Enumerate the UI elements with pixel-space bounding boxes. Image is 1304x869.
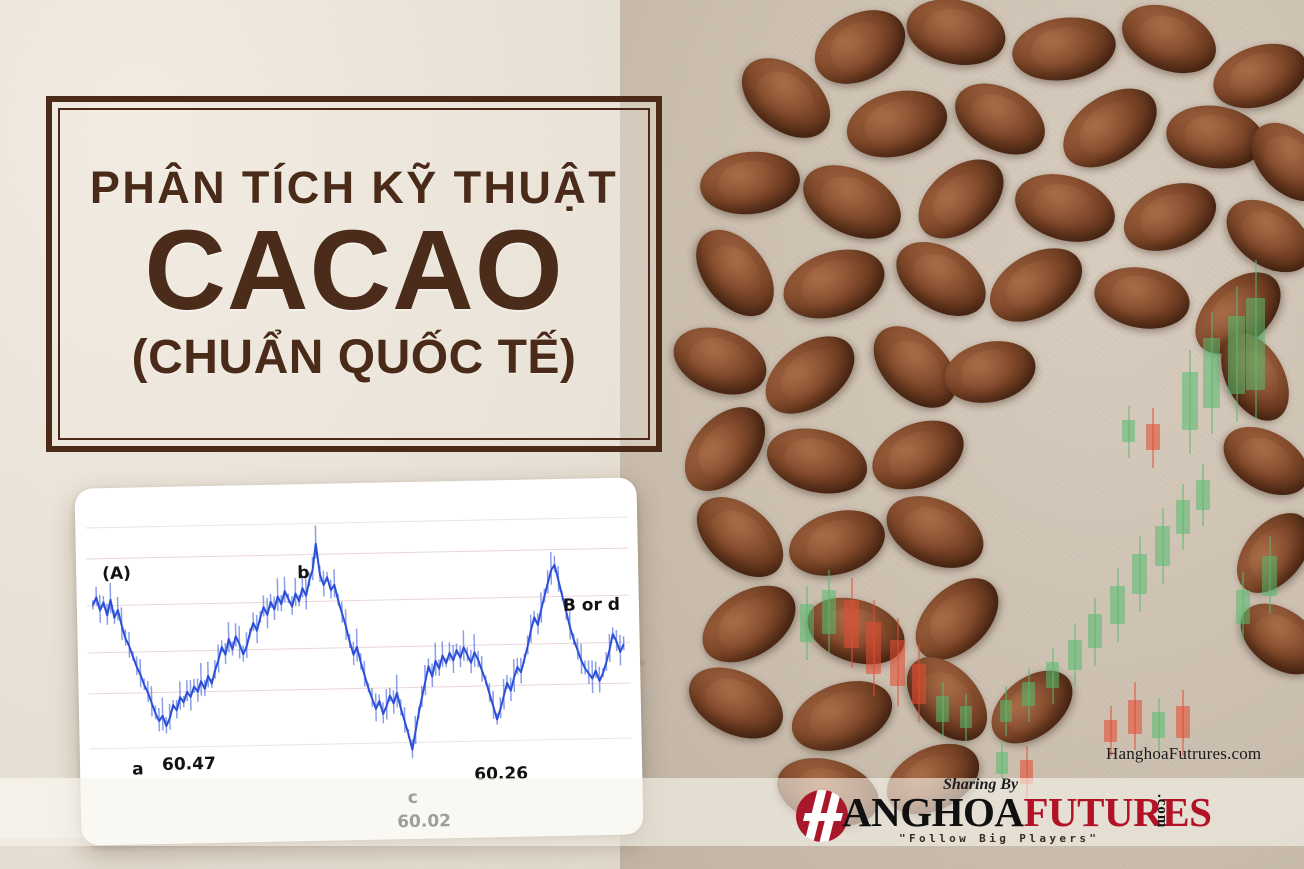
candlestick (844, 578, 859, 668)
poster-canvas: (m7 (+6)6n 7-1)9, (38)((76)(04)78)1)041(… (0, 0, 1304, 869)
candlestick-body (1022, 682, 1035, 706)
candlestick-body (1246, 298, 1265, 390)
candlestick-body (1182, 372, 1198, 430)
candlestick-body (1104, 720, 1117, 742)
candlestick (1155, 508, 1170, 584)
candlestick-body (1046, 662, 1059, 688)
candlestick-body (1152, 712, 1165, 738)
candlestick-body (1132, 554, 1147, 594)
candlestick-body (1000, 700, 1012, 722)
candlestick-body (1196, 480, 1210, 510)
candlestick (1110, 568, 1125, 642)
candlestick-body (1146, 424, 1160, 450)
chart-label-low-a: a (132, 759, 144, 779)
candlestick (1262, 536, 1277, 614)
candlestick-body (844, 600, 859, 648)
chart-value-60-47: 60.47 (162, 754, 216, 775)
candlestick-body (1122, 420, 1135, 442)
candlestick (1196, 464, 1210, 526)
title-line-standard: (CHUẨN QUỐC TẾ) (132, 332, 577, 385)
candlestick-body (1176, 500, 1190, 534)
candlestick-body (996, 752, 1008, 774)
candlestick (800, 586, 814, 660)
candlestick (1228, 286, 1245, 422)
candlestick-body (1128, 700, 1142, 734)
candlestick (1176, 484, 1190, 550)
title-frame: PHÂN TÍCH KỸ THUẬT CACAO (CHUẨN QUỐC TẾ) (46, 96, 662, 452)
candlestick (1182, 350, 1198, 454)
candlestick-body (1262, 556, 1277, 596)
logo-word-anghoa: ANGHOA (842, 789, 1024, 835)
logo-dotcom: .com (1153, 794, 1170, 828)
candlestick (936, 682, 949, 738)
chart-label-peak-b: b (297, 563, 310, 583)
candlestick-body (912, 664, 926, 704)
candlestick-body (1068, 640, 1082, 670)
logo-word-futures: FUTURES (1024, 789, 1212, 835)
candlestick-body (1176, 706, 1190, 738)
logo-tagline: "Follow Big Players" (899, 832, 1099, 845)
title-line-analysis: PHÂN TÍCH KỸ THUẬT (90, 163, 618, 213)
title-text-stack: PHÂN TÍCH KỸ THUẬT CACAO (CHUẨN QUỐC TẾ) (52, 102, 656, 446)
candlestick (1022, 668, 1035, 722)
candlestick (1068, 624, 1082, 686)
title-line-cacao: CACAO (144, 213, 563, 328)
chart-label-B-or-d: B or d (563, 595, 620, 616)
candlestick (822, 570, 836, 654)
candlestick (960, 694, 972, 742)
candlestick (1246, 260, 1265, 420)
candlestick (1146, 408, 1160, 468)
candlestick (1203, 312, 1220, 434)
candlestick-body (1110, 586, 1125, 624)
h-monogram-icon (796, 790, 848, 842)
candlestick (866, 600, 881, 696)
site-url-text: HanghoaFutrures.com (1106, 744, 1261, 764)
candlestick-body (960, 706, 972, 728)
candlestick-body (822, 590, 836, 634)
candlestick (912, 644, 926, 722)
candlestick (1132, 536, 1147, 612)
candlestick (890, 618, 905, 706)
chart-label-wave-A: (A) (102, 564, 131, 585)
candlestick-body (800, 604, 814, 642)
candlestick (1000, 686, 1012, 736)
candlestick-body (866, 622, 881, 674)
candlestick (1128, 682, 1142, 750)
candlestick-body (1228, 316, 1245, 394)
candlestick (1046, 648, 1059, 704)
candlestick (1236, 572, 1250, 642)
candlestick-body (1236, 590, 1250, 624)
candlestick-body (1088, 614, 1102, 648)
candlestick-body (1155, 526, 1170, 566)
candlestick (1088, 598, 1102, 666)
candlestick-body (1203, 338, 1220, 408)
candlestick (1122, 406, 1135, 458)
candlestick-body (936, 696, 949, 722)
cacao-photo (620, 0, 1304, 869)
candlestick-body (890, 640, 905, 686)
